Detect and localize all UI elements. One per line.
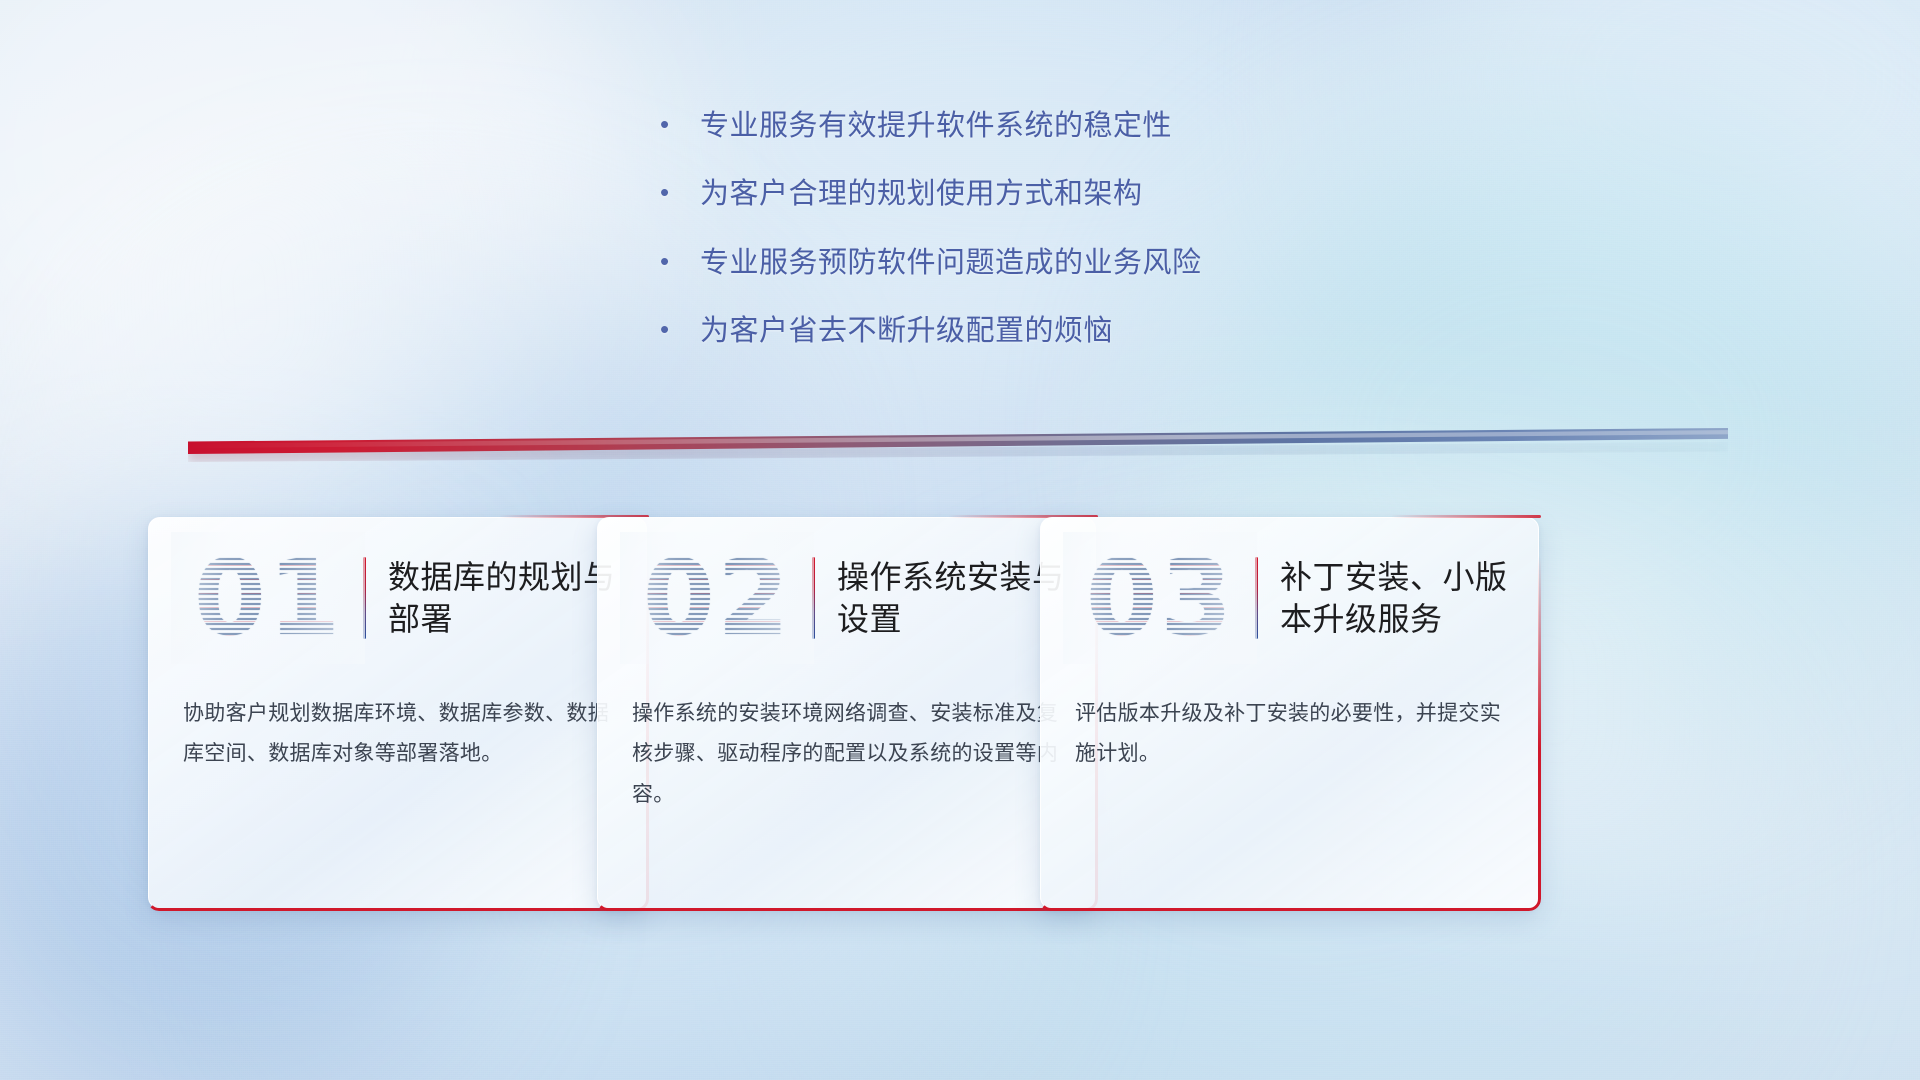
card-title-separator: [363, 557, 366, 639]
card-number: 02: [643, 546, 792, 650]
card-header: 03 03 补丁安装、小版本升级服务: [1041, 518, 1538, 678]
card-number: 01: [194, 546, 343, 650]
card-title: 补丁安装、小版本升级服务: [1280, 556, 1538, 640]
list-item: • 专业服务有效提升软件系统的稳定性: [660, 108, 1420, 144]
section-divider: [188, 428, 1728, 454]
bullet-marker-icon: •: [660, 108, 700, 142]
card-number-watermark: 03 03: [1069, 538, 1251, 658]
list-item-label: 专业服务有效提升软件系统的稳定性: [700, 108, 1420, 144]
benefits-bullet-list: • 专业服务有效提升软件系统的稳定性 • 为客户合理的规划使用方式和架构 • 专…: [660, 108, 1420, 381]
list-item: • 为客户省去不断升级配置的烦恼: [660, 313, 1420, 349]
card-number-watermark: 02 02: [626, 538, 808, 658]
card-number-watermark: 01 01: [177, 538, 359, 658]
list-item: • 为客户合理的规划使用方式和架构: [660, 176, 1420, 212]
service-card[interactable]: 03 03 补丁安装、小版本升级服务 评估版本升级及补丁安装的必要性，并提交实施…: [1040, 517, 1539, 909]
card-title-separator: [812, 557, 815, 639]
bullet-marker-icon: •: [660, 176, 700, 210]
list-item-label: 为客户合理的规划使用方式和架构: [700, 176, 1420, 212]
card-header: 02 02 操作系统安装与设置: [598, 518, 1095, 678]
card-description: 操作系统的安装环境网络调查、安装标准及复核步骤、驱动程序的配置以及系统的设置等内…: [632, 694, 1067, 815]
service-card[interactable]: 02 02 操作系统安装与设置 操作系统的安装环境网络调查、安装标准及复核步骤、…: [597, 517, 1096, 909]
card-description: 评估版本升级及补丁安装的必要性，并提交实施计划。: [1075, 694, 1510, 775]
card-number: 03: [1086, 546, 1235, 650]
card-title-separator: [1255, 557, 1258, 639]
bullet-marker-icon: •: [660, 313, 700, 347]
list-item-label: 为客户省去不断升级配置的烦恼: [700, 313, 1420, 349]
card-description: 协助客户规划数据库环境、数据库参数、数据库空间、数据库对象等部署落地。: [183, 694, 618, 775]
bullet-marker-icon: •: [660, 245, 700, 279]
card-header: 01 01 数据库的规划与部署: [149, 518, 646, 678]
list-item-label: 专业服务预防软件问题造成的业务风险: [700, 245, 1420, 281]
service-card-group: 01 01 数据库的规划与部署 协助客户规划数据库环境、数据库参数、数据库空间、…: [0, 517, 1920, 937]
list-item: • 专业服务预防软件问题造成的业务风险: [660, 245, 1420, 281]
service-card[interactable]: 01 01 数据库的规划与部署 协助客户规划数据库环境、数据库参数、数据库空间、…: [148, 517, 647, 909]
